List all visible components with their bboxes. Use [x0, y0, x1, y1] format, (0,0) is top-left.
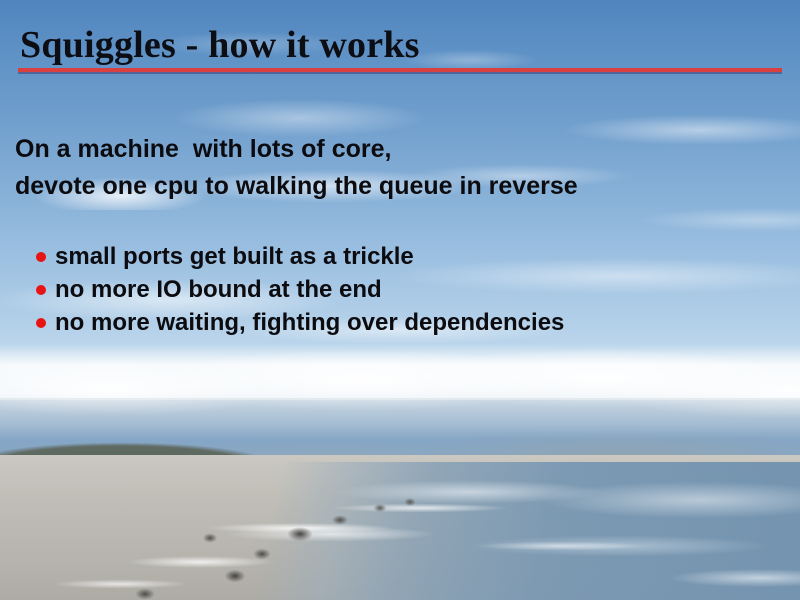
title-underline-rule	[18, 68, 782, 72]
bullet-dot-icon	[36, 285, 46, 295]
slide-bullet-list: small ports get built as a trickle no mo…	[36, 240, 564, 339]
slide-title: Squiggles - how it works	[20, 24, 420, 66]
list-item-label: no more IO bound at the end	[55, 276, 382, 304]
list-item: no more waiting, fighting over dependenc…	[36, 306, 564, 339]
slide-lead-paragraph: On a machine with lots of core, devote o…	[15, 131, 578, 205]
list-item-label: no more waiting, fighting over dependenc…	[55, 309, 564, 337]
bullet-dot-icon	[36, 318, 46, 328]
bullet-dot-icon	[36, 252, 46, 262]
slide-content: Squiggles - how it works On a machine wi…	[0, 0, 800, 600]
list-item: no more IO bound at the end	[36, 273, 564, 306]
presentation-slide: Squiggles - how it works On a machine wi…	[0, 0, 800, 600]
list-item: small ports get built as a trickle	[36, 240, 564, 273]
list-item-label: small ports get built as a trickle	[55, 243, 414, 271]
